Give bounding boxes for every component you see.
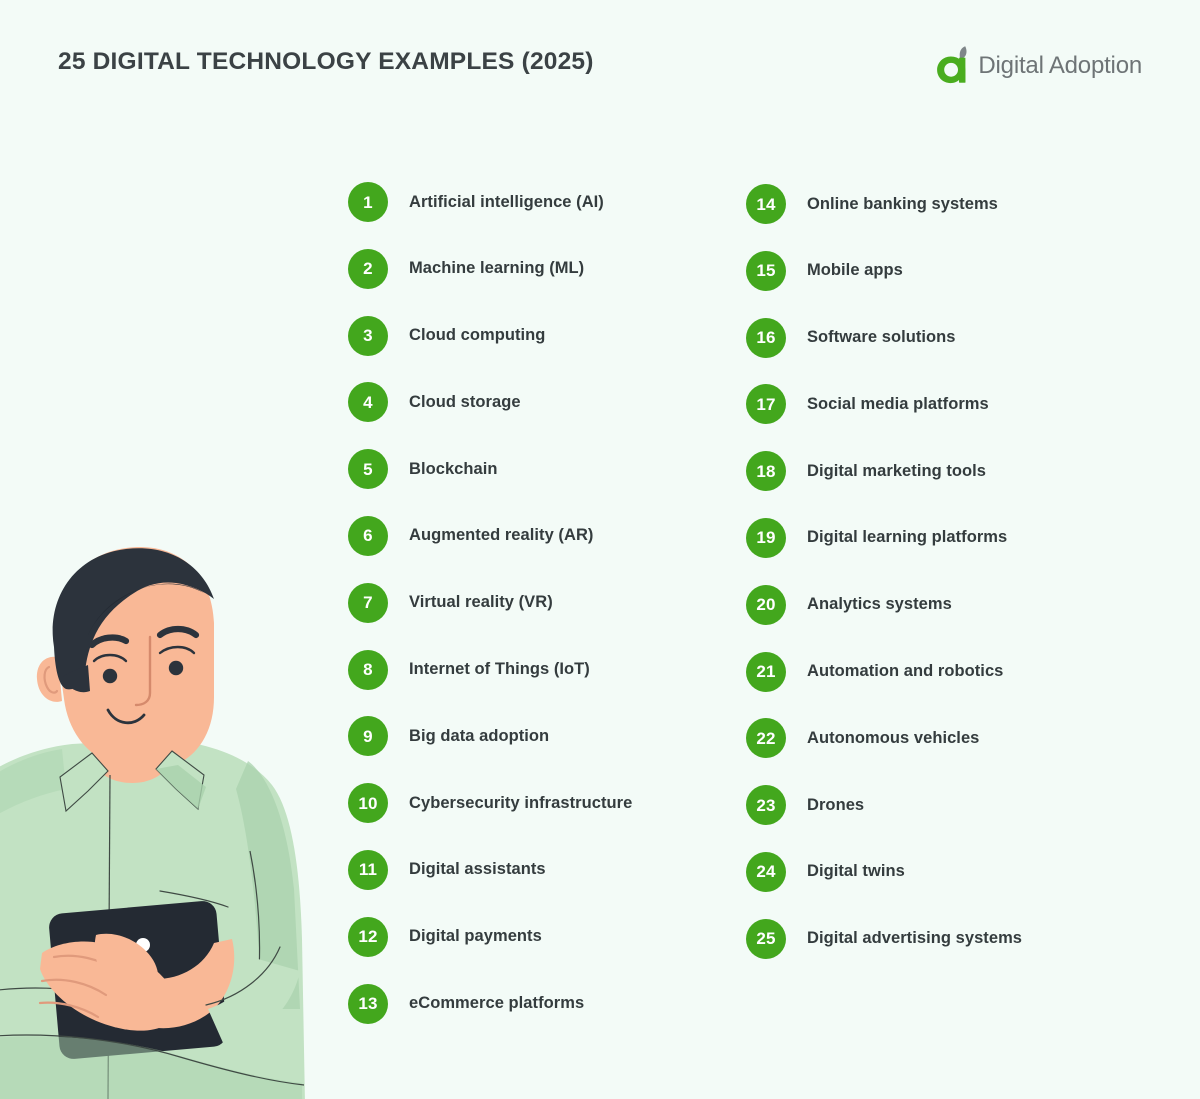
list-item[interactable]: 5 Blockchain [348, 449, 632, 489]
item-label: eCommerce platforms [409, 994, 584, 1013]
item-number-badge: 12 [348, 917, 388, 957]
man-holding-tablet-illustration [0, 539, 330, 1099]
list-item[interactable]: 16 Software solutions [746, 318, 1022, 358]
item-label: Augmented reality (AR) [409, 526, 593, 545]
list-item[interactable]: 25 Digital advertising systems [746, 919, 1022, 959]
item-number-badge: 1 [348, 182, 388, 222]
list-item[interactable]: 1 Artificial intelligence (AI) [348, 182, 632, 222]
list-item[interactable]: 22 Autonomous vehicles [746, 718, 1022, 758]
item-label: Machine learning (ML) [409, 259, 584, 278]
list-item[interactable]: 7 Virtual reality (VR) [348, 583, 632, 623]
item-number-badge: 15 [746, 251, 786, 291]
item-label: Social media platforms [807, 395, 989, 414]
item-number-badge: 11 [348, 850, 388, 890]
item-label: Internet of Things (IoT) [409, 660, 590, 679]
list-item[interactable]: 11 Digital assistants [348, 850, 632, 890]
item-number-badge: 7 [348, 583, 388, 623]
item-label: Artificial intelligence (AI) [409, 193, 604, 212]
item-number-badge: 5 [348, 449, 388, 489]
item-number-badge: 4 [348, 382, 388, 422]
item-label: Digital assistants [409, 860, 546, 879]
item-number-badge: 14 [746, 184, 786, 224]
list-column-left: 1 Artificial intelligence (AI) 2 Machine… [348, 182, 632, 1024]
list-item[interactable]: 9 Big data adoption [348, 716, 632, 756]
list-item[interactable]: 19 Digital learning platforms [746, 518, 1022, 558]
item-label: Drones [807, 796, 864, 815]
list-item[interactable]: 15 Mobile apps [746, 251, 1022, 291]
header: 25 DIGITAL TECHNOLOGY EXAMPLES (2025) Di… [0, 0, 1200, 120]
infographic-page: 25 DIGITAL TECHNOLOGY EXAMPLES (2025) Di… [0, 0, 1200, 1099]
list-item[interactable]: 13 eCommerce platforms [348, 984, 632, 1024]
item-number-badge: 9 [348, 716, 388, 756]
item-number-badge: 24 [746, 852, 786, 892]
list-item[interactable]: 21 Automation and robotics [746, 652, 1022, 692]
list-item[interactable]: 23 Drones [746, 785, 1022, 825]
brand-logo: Digital Adoption [935, 45, 1142, 87]
item-label: Cybersecurity infrastructure [409, 794, 632, 813]
item-label: Cloud computing [409, 326, 545, 345]
list-item[interactable]: 8 Internet of Things (IoT) [348, 650, 632, 690]
item-label: Online banking systems [807, 195, 998, 214]
list-column-right: 14 Online banking systems 15 Mobile apps… [746, 184, 1022, 959]
list-item[interactable]: 17 Social media platforms [746, 384, 1022, 424]
item-label: Virtual reality (VR) [409, 593, 553, 612]
item-label: Automation and robotics [807, 662, 1003, 681]
list-item[interactable]: 18 Digital marketing tools [746, 451, 1022, 491]
item-label: Digital learning platforms [807, 528, 1007, 547]
list-item[interactable]: 10 Cybersecurity infrastructure [348, 783, 632, 823]
item-number-badge: 6 [348, 516, 388, 556]
item-label: Mobile apps [807, 261, 903, 280]
item-number-badge: 20 [746, 585, 786, 625]
item-number-badge: 10 [348, 783, 388, 823]
item-label: Big data adoption [409, 727, 549, 746]
item-number-badge: 21 [746, 652, 786, 692]
item-number-badge: 18 [746, 451, 786, 491]
item-label: Digital marketing tools [807, 462, 986, 481]
item-label: Cloud storage [409, 393, 521, 412]
page-title: 25 DIGITAL TECHNOLOGY EXAMPLES (2025) [58, 48, 594, 76]
item-number-badge: 25 [746, 919, 786, 959]
item-number-badge: 13 [348, 984, 388, 1024]
list-item[interactable]: 12 Digital payments [348, 917, 632, 957]
item-number-badge: 8 [348, 650, 388, 690]
item-number-badge: 19 [746, 518, 786, 558]
item-label: Digital twins [807, 862, 905, 881]
item-number-badge: 3 [348, 316, 388, 356]
item-number-badge: 16 [746, 318, 786, 358]
digital-adoption-a-logo-icon [935, 45, 971, 87]
item-number-badge: 22 [746, 718, 786, 758]
item-number-badge: 23 [746, 785, 786, 825]
list-item[interactable]: 14 Online banking systems [746, 184, 1022, 224]
brand-name: Digital Adoption [978, 52, 1142, 80]
item-number-badge: 17 [746, 384, 786, 424]
item-label: Software solutions [807, 328, 956, 347]
list-item[interactable]: 6 Augmented reality (AR) [348, 516, 632, 556]
item-label: Digital payments [409, 927, 542, 946]
item-label: Digital advertising systems [807, 929, 1022, 948]
list-item[interactable]: 2 Machine learning (ML) [348, 249, 632, 289]
item-label: Blockchain [409, 460, 498, 479]
item-label: Autonomous vehicles [807, 729, 979, 748]
list-item[interactable]: 4 Cloud storage [348, 382, 632, 422]
item-number-badge: 2 [348, 249, 388, 289]
list-item[interactable]: 3 Cloud computing [348, 316, 632, 356]
list-item[interactable]: 24 Digital twins [746, 852, 1022, 892]
item-label: Analytics systems [807, 595, 952, 614]
list-item[interactable]: 20 Analytics systems [746, 585, 1022, 625]
